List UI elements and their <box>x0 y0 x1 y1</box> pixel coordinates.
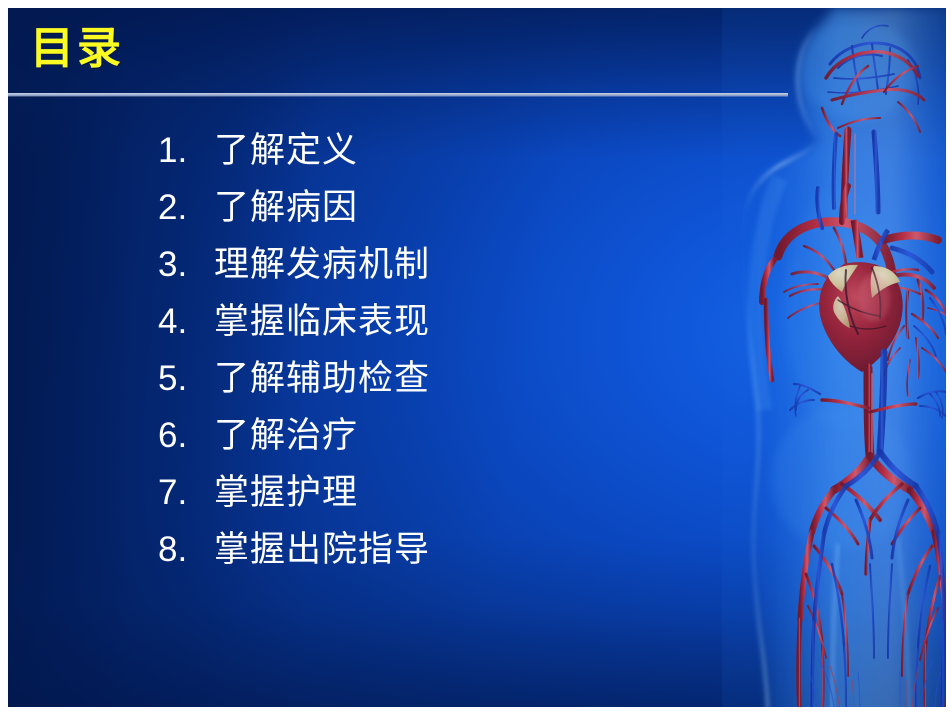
list-item[interactable]: 6. 了解治疗 <box>158 418 718 475</box>
table-of-contents: 1. 了解定义 2. 了解病因 3. 理解发病机制 4. 掌握临床表现 5. 了… <box>158 133 718 589</box>
list-item-label: 掌握护理 <box>214 476 718 511</box>
list-item-label: 了解定义 <box>214 134 718 169</box>
slide-canvas: 目录 1. 了解定义 2. 了解病因 3. 理解发病机制 4. 掌握临床表现 <box>8 8 946 707</box>
title-divider <box>8 93 788 96</box>
list-item[interactable]: 1. 了解定义 <box>158 133 718 190</box>
list-item-label: 理解发病机制 <box>214 248 718 283</box>
list-item[interactable]: 7. 掌握护理 <box>158 475 718 532</box>
list-item[interactable]: 2. 了解病因 <box>158 190 718 247</box>
list-item[interactable]: 5. 了解辅助检查 <box>158 361 718 418</box>
list-item-label: 了解病因 <box>214 191 718 226</box>
slide: 目录 1. 了解定义 2. 了解病因 3. 理解发病机制 4. 掌握临床表现 <box>0 0 950 713</box>
list-item-number: 4. <box>158 304 214 339</box>
circulatory-system-figure <box>722 8 946 707</box>
list-item-number: 5. <box>158 361 214 396</box>
list-item-label: 掌握出院指导 <box>214 533 718 568</box>
list-item[interactable]: 4. 掌握临床表现 <box>158 304 718 361</box>
page-title: 目录 <box>30 23 124 75</box>
list-item-number: 1. <box>158 133 214 168</box>
list-item-label: 了解治疗 <box>214 419 718 454</box>
list-item-label: 掌握临床表现 <box>214 305 718 340</box>
list-item-label: 了解辅助检查 <box>214 362 718 397</box>
list-item-number: 6. <box>158 418 214 453</box>
list-item-number: 3. <box>158 247 214 282</box>
list-item-number: 2. <box>158 190 214 225</box>
list-item[interactable]: 3. 理解发病机制 <box>158 247 718 304</box>
list-item-number: 7. <box>158 475 214 510</box>
list-item-number: 8. <box>158 532 214 567</box>
list-item[interactable]: 8. 掌握出院指导 <box>158 532 718 589</box>
